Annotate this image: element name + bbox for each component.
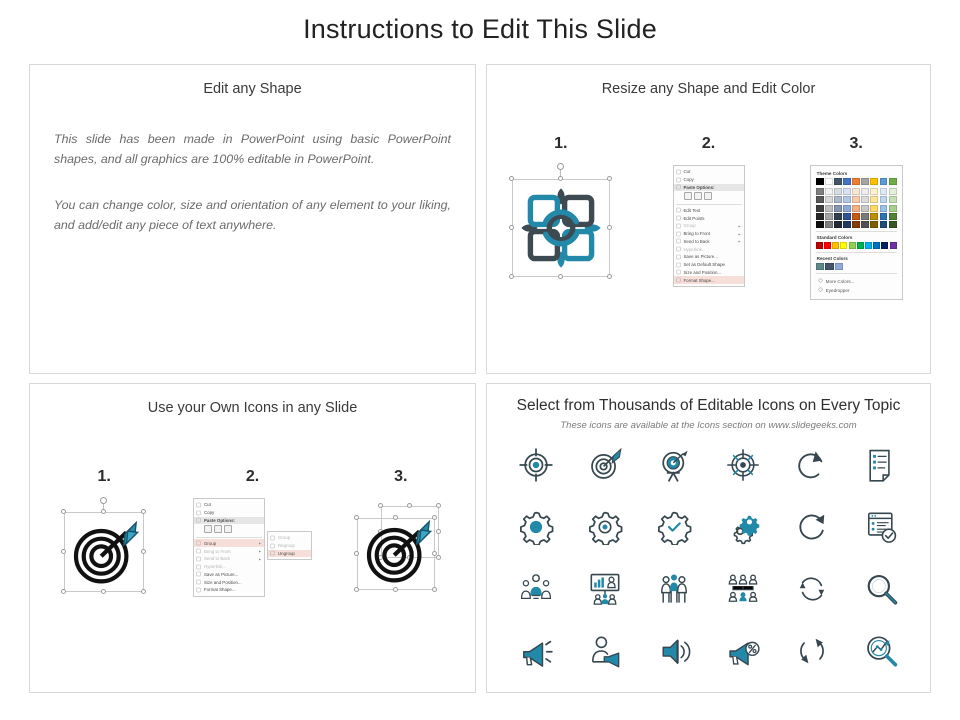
icon-cell[interactable] [708,442,777,488]
group-icon [676,223,681,228]
color-swatch[interactable] [861,196,869,203]
menu-item-label: Send to Back [684,239,710,244]
more-colors-option[interactable]: More Colors... [816,277,897,286]
color-swatch[interactable] [816,188,824,195]
menu-item-label: Edit Points [684,216,705,221]
menu-item-label: Format Shape... [684,278,715,283]
chevron-right-icon: ▸ [259,556,261,561]
send-back-icon [196,556,201,561]
color-swatch[interactable] [861,205,869,212]
color-swatch[interactable] [834,188,842,195]
color-swatch[interactable] [825,188,833,195]
theme-colors-row [816,178,897,185]
color-swatch[interactable] [880,205,888,212]
org-chart-team-icon [725,571,761,607]
magnifier-analytics-icon [863,633,899,669]
menu-item-label: Regroup [278,543,295,548]
edit-shape-paragraph-2: You can change color, size and orientati… [54,195,451,235]
color-swatch[interactable] [816,205,824,212]
chevron-right-icon: ▸ [738,223,740,228]
icon-cell[interactable] [778,504,847,550]
color-swatch[interactable] [816,213,824,220]
dartboard-arrow-icon [69,517,139,587]
menu-item-label: Save as Picture... [204,572,238,577]
edit-text-icon [676,208,681,213]
double-gear-icon [725,509,761,545]
color-swatch[interactable] [880,178,888,185]
crosshair-target-icon [518,447,554,483]
context-menu-art: CutCopyPaste Options:Edit TextEdit Point… [673,165,745,287]
color-swatch[interactable] [816,263,824,270]
menu-item-cut[interactable]: Cut [674,168,744,176]
icon-cell[interactable] [708,628,777,674]
icon-cell[interactable] [570,442,639,488]
panel-editable-icons: Select from Thousands of Editable Icons … [486,383,931,693]
icon-cell[interactable] [847,566,916,612]
loudspeaker-icon [656,633,692,669]
chevron-right-icon: ▸ [259,549,261,554]
menu-item-size-and-position[interactable]: Size and Position... [194,578,264,586]
icon-cell[interactable] [708,566,777,612]
menu-item-label: Format Shape... [204,587,235,592]
megaphone-icon [518,633,554,669]
menu-item-label: Hyperlink... [684,247,706,252]
icon-cell[interactable] [847,442,916,488]
copy-icon [196,510,201,515]
color-swatch[interactable] [852,178,860,185]
color-swatch[interactable] [880,196,888,203]
menu-item-label: Group [204,541,216,546]
color-swatch[interactable] [889,188,897,195]
color-swatch[interactable] [890,242,897,249]
color-swatch[interactable] [843,196,851,203]
color-swatch[interactable] [843,221,851,228]
color-swatch[interactable] [852,196,860,203]
menu-item-save-as-picture[interactable]: Save as Picture... [194,570,264,578]
icon-cell[interactable] [639,442,708,488]
scissors-icon [196,502,201,507]
icon-cell[interactable] [570,566,639,612]
icon-cell[interactable] [847,504,916,550]
shape-context-menu[interactable]: CutCopyPaste Options:Edit TextEdit Point… [673,165,745,287]
step-icons-1: 1. [30,468,178,598]
step-icons-3: 3. [327,468,475,598]
group-submenu[interactable]: GroupRegroupUngroup [267,531,312,560]
icon-cell[interactable] [708,504,777,550]
recent-colors-row [816,263,897,270]
color-swatch[interactable] [843,213,851,220]
chevron-right-icon: ▸ [259,541,261,546]
color-swatch[interactable] [825,221,833,228]
color-swatch[interactable] [825,196,833,203]
color-swatch[interactable] [870,178,878,185]
eyedropper-option[interactable]: Eyedropper [816,286,897,295]
step-number: 1. [554,135,567,153]
color-picker-art: Theme ColorsStandard ColorsRecent Colors… [810,165,903,300]
step-resize-3: 3. Theme ColorsStandard ColorsRecent Col… [782,135,930,300]
color-swatch[interactable] [816,221,824,228]
panel-title-edit-shape: Edit any Shape [30,81,475,97]
menu-item-size-and-position[interactable]: Size and Position... [674,269,744,277]
picker-separator [816,231,897,232]
gear-filled-icon [518,509,554,545]
paste-icon [196,518,201,523]
picker-separator [816,273,897,274]
color-swatch[interactable] [881,242,888,249]
menu-item-label: Edit Text [684,208,701,213]
menu-item-edit-points[interactable]: Edit Points [674,214,744,222]
menu-item-paste-options[interactable]: Paste Options: [194,517,264,525]
gear-outline-icon [587,509,623,545]
paste-option-icons[interactable] [674,191,744,202]
step-number: 3. [394,468,407,486]
menu-separator [196,537,262,538]
color-swatch[interactable] [852,205,860,212]
ungroup-icon [270,551,275,556]
menu-item-label: Cut [684,169,691,174]
color-swatch[interactable] [857,242,864,249]
menu-item-label: Size and Position... [204,580,242,585]
menu-item-label: Cut [204,502,211,507]
color-swatch[interactable] [816,196,824,203]
step-number: 1. [97,468,110,486]
color-swatch[interactable] [870,188,878,195]
option-label: Eyedropper [826,288,850,293]
menu-item-copy[interactable]: Copy [674,176,744,184]
paste-text-icon[interactable] [704,192,712,200]
megaphone-percent-icon [725,633,761,669]
hyperlink-icon [196,564,201,569]
paste-picture-icon[interactable] [214,525,222,533]
icon-cell[interactable] [501,442,570,488]
color-swatch[interactable] [849,242,856,249]
group-icon [270,535,275,540]
color-swatch[interactable] [889,196,897,203]
step-resize-1: 1. [487,135,635,300]
theme-tint-row-2 [816,205,897,212]
menu-item-group[interactable]: Group▸ [674,222,744,230]
standard-colors-row [816,242,897,249]
menu-item-format-shape[interactable]: Format Shape... [674,276,744,284]
paste-picture-icon[interactable] [694,192,702,200]
color-swatch[interactable] [834,213,842,220]
color-swatch[interactable] [870,213,878,220]
menu-item-cut[interactable]: Cut [194,501,264,509]
icon-cell[interactable] [639,628,708,674]
color-swatch[interactable] [824,242,831,249]
color-swatch[interactable] [825,213,833,220]
color-swatch[interactable] [816,242,823,249]
menu-item-hyperlink[interactable]: Hyperlink... [194,563,264,571]
menu-item-label: Copy [684,177,694,182]
menu-item-ungroup[interactable]: Ungroup [268,550,311,558]
menu-item-label: Bring to Front [204,549,231,554]
group-icon [196,541,201,546]
color-swatch[interactable] [816,178,824,185]
selected-target-icon-art [56,498,152,598]
step-number: 3. [850,135,863,153]
color-swatch[interactable] [834,196,842,203]
color-swatch[interactable] [889,178,897,185]
color-swatch[interactable] [843,178,851,185]
hyperlink-icon [676,247,681,252]
group-context-menu-art: CutCopyPaste Options:Group▸Bring to Fron… [193,498,312,597]
theme-tint-row-4 [816,221,897,228]
color-swatch[interactable] [861,188,869,195]
send-back-icon [676,239,681,244]
menu-item-bring-to-front[interactable]: Bring to Front▸ [674,230,744,238]
menu-item-label: Bring to Front [684,231,711,236]
theme-tint-row-3 [816,213,897,220]
color-swatch[interactable] [880,188,888,195]
color-picker-panel[interactable]: Theme ColorsStandard ColorsRecent Colors… [810,165,903,300]
color-swatch[interactable] [834,221,842,228]
save-picture-icon [676,254,681,259]
size-position-icon [676,270,681,275]
menu-item-bring-to-front[interactable]: Bring to Front▸ [194,547,264,555]
color-swatch[interactable] [861,213,869,220]
ungrouped-target-icon-art [351,498,451,598]
color-swatch[interactable] [834,205,842,212]
menu-item-label: Size and Position... [684,270,722,275]
color-swatch[interactable] [843,205,851,212]
color-swatch[interactable] [852,188,860,195]
menu-item-label: Save as Picture... [684,254,718,259]
refresh-circle-icon [794,509,830,545]
panel-title-editable-icons: Select from Thousands of Editable Icons … [487,397,930,415]
theme-tint-row-0 [816,188,897,195]
icon-cell[interactable] [570,504,639,550]
recent-colors-label: Recent Colors [817,256,897,261]
menu-item-group[interactable]: Group▸ [194,539,264,547]
gear-check-icon [656,509,692,545]
color-swatch[interactable] [880,213,888,220]
save-picture-icon [196,572,201,577]
icon-cell[interactable] [501,628,570,674]
menu-item-label: Group [684,223,696,228]
default-shape-icon [676,262,681,267]
menu-item-format-shape[interactable]: Format Shape... [194,586,264,594]
menu-item-paste-options[interactable]: Paste Options: [674,184,744,192]
color-swatch[interactable] [889,213,897,220]
paste-icon [676,185,681,190]
icon-cell[interactable] [639,504,708,550]
redo-arrow-icon [794,447,830,483]
color-swatch[interactable] [873,242,880,249]
panel-edit-any-shape: Edit any Shape This slide has been made … [29,64,476,374]
presentation-meeting-icon [587,571,623,607]
copy-icon [676,177,681,182]
color-swatch[interactable] [852,221,860,228]
icon-cell[interactable] [778,566,847,612]
menu-item-label: Group [278,535,290,540]
color-swatch[interactable] [865,242,872,249]
color-swatch[interactable] [834,178,842,185]
checklist-document-icon [863,447,899,483]
chevron-right-icon: ▸ [738,231,740,236]
color-swatch[interactable] [880,221,888,228]
size-position-icon [196,580,201,585]
menu-item-copy[interactable]: Copy [194,509,264,517]
step-number: 2. [702,135,715,153]
icon-cell[interactable] [639,566,708,612]
color-swatch[interactable] [835,263,843,270]
color-swatch[interactable] [825,205,833,212]
format-shape-icon [196,587,201,592]
color-swatch[interactable] [889,205,897,212]
target-stand-icon [656,447,692,483]
menu-item-send-to-back[interactable]: Send to Back▸ [674,237,744,245]
menu-item-group[interactable]: Group [268,534,311,542]
menu-item-regroup[interactable]: Regroup [268,542,311,550]
menu-separator [676,204,742,205]
panel-subtitle-editable-icons: These icons are available at the Icons s… [487,420,930,431]
icon-cell[interactable] [501,504,570,550]
menu-item-label: Send to Back [204,556,230,561]
icon-gallery-grid [501,442,916,674]
standard-colors-label: Standard Colors [817,235,897,240]
color-swatch[interactable] [825,263,833,270]
panel-resize-shape-edit-color: Resize any Shape and Edit Color 1. [486,64,931,374]
icon-cell[interactable] [501,566,570,612]
menu-item-label: Paste Options: [204,518,235,523]
color-swatch[interactable] [870,196,878,203]
step-icons-2: 2. CutCopyPaste Options:Group▸Bring to F… [178,468,326,598]
group-people-icon [656,571,692,607]
selected-shape-art [504,165,618,283]
color-swatch[interactable] [843,188,851,195]
icon-cell[interactable] [570,628,639,674]
magnifier-icon [863,571,899,607]
team-leader-icon [518,571,554,607]
regroup-icon [270,543,275,548]
color-swatch[interactable] [861,221,869,228]
panel-title-resize-shape: Resize any Shape and Edit Color [487,81,930,97]
scissors-icon [676,169,681,174]
slide-canvas: Instructions to Edit This Slide Edit any… [0,0,960,720]
paste-keep-format-icon[interactable] [684,192,692,200]
bring-front-icon [196,549,201,554]
color-swatch[interactable] [889,221,897,228]
theme-tint-row-1 [816,196,897,203]
menu-item-label: Ungroup [278,551,295,556]
panel-use-own-icons: Use your Own Icons in any Slide 1. [29,383,476,693]
menu-item-label: Set as Default Shape [684,262,726,267]
edit-shape-paragraph-1: This slide has been made in PowerPoint u… [54,129,451,169]
icon-context-menu[interactable]: CutCopyPaste Options:Group▸Bring to Fron… [193,498,265,597]
menu-item-edit-text[interactable]: Edit Text [674,206,744,214]
menu-item-hyperlink[interactable]: Hyperlink... [674,245,744,253]
dartboard-arrow-icon [587,447,623,483]
paste-option-icons[interactable] [194,524,264,535]
paste-keep-format-icon[interactable] [204,525,212,533]
picker-separator [816,252,897,253]
menu-item-send-to-back[interactable]: Send to Back▸ [194,555,264,563]
color-swatch[interactable] [861,178,869,185]
sync-arrows-icon [794,571,830,607]
icon-cell[interactable] [847,628,916,674]
option-label: More Colors... [826,279,855,284]
color-swatch[interactable] [870,205,878,212]
menu-item-label: Copy [204,510,214,515]
paste-text-icon[interactable] [224,525,232,533]
color-swatch[interactable] [852,213,860,220]
palette-icon [818,278,823,284]
menu-item-save-as-picture[interactable]: Save as Picture... [674,253,744,261]
format-shape-icon [676,278,681,283]
person-megaphone-icon [587,633,623,669]
color-swatch[interactable] [870,221,878,228]
icon-cell[interactable] [778,628,847,674]
edit-points-icon [676,216,681,221]
menu-item-label: Paste Options: [684,185,715,190]
menu-item-label: Hyperlink... [204,564,226,569]
eyedropper-icon [818,287,823,293]
circular-arrows-icon [794,633,830,669]
chevron-right-icon: ▸ [738,239,740,244]
bring-front-icon [676,231,681,236]
color-swatch[interactable] [840,242,847,249]
color-swatch[interactable] [832,242,839,249]
step-number: 2. [246,468,259,486]
panel-title-own-icons: Use your Own Icons in any Slide [30,400,475,416]
four-squares-rotate-icon [516,183,606,273]
scope-target-icon [725,447,761,483]
dartboard-arrow-icon [362,516,432,586]
step-resize-2: 2. CutCopyPaste Options:Edit TextEdit Po… [635,135,783,300]
page-title: Instructions to Edit This Slide [0,14,960,45]
document-check-icon [863,509,899,545]
menu-item-set-as-default-shape[interactable]: Set as Default Shape [674,261,744,269]
color-swatch[interactable] [825,178,833,185]
theme-colors-label: Theme Colors [817,171,897,176]
icon-cell[interactable] [778,442,847,488]
